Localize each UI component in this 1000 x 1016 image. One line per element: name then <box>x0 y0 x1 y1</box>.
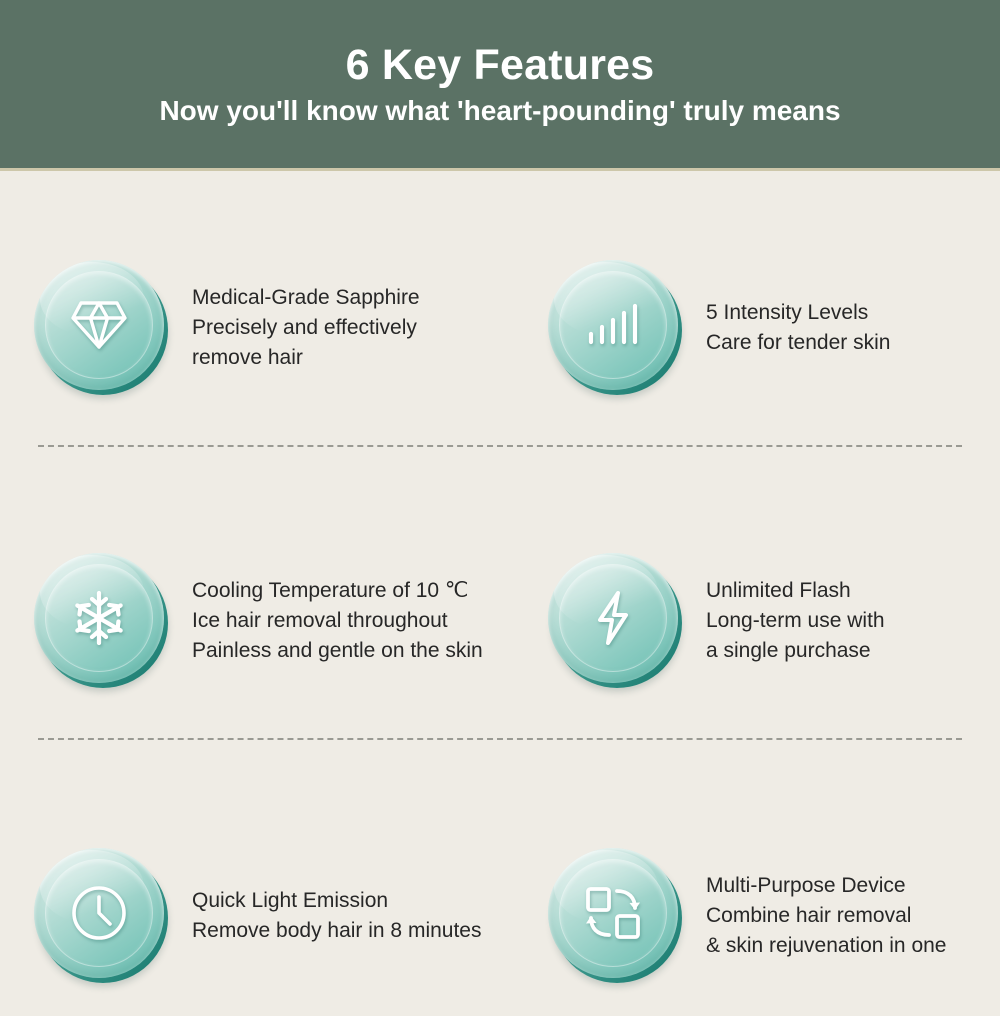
feature-line: Precisely and effectively <box>192 313 420 343</box>
feature-item-quick-light-emission: Quick Light Emission Remove body hair in… <box>0 816 520 1016</box>
feature-text: Cooling Temperature of 10 ℃ Ice hair rem… <box>192 576 483 666</box>
feature-line: Long-term use with <box>706 606 885 636</box>
feature-line: Ice hair removal throughout <box>192 606 483 636</box>
features-grid: Medical-Grade Sapphire Precisely and eff… <box>0 171 1000 1000</box>
feature-item-medical-grade-sapphire: Medical-Grade Sapphire Precisely and eff… <box>0 228 520 428</box>
feature-text: 5 Intensity Levels Care for tender skin <box>706 298 890 358</box>
feature-line: Unlimited Flash <box>706 576 885 606</box>
feature-line: & skin rejuvenation in one <box>706 931 947 961</box>
page-header: 6 Key Features Now you'll know what 'hea… <box>0 0 1000 171</box>
feature-line: Quick Light Emission <box>192 886 481 916</box>
feature-text: Unlimited Flash Long-term use with a sin… <box>706 576 885 666</box>
swap-squares-icon <box>548 848 678 978</box>
page-subtitle: Now you'll know what 'heart-pounding' tr… <box>159 96 840 125</box>
feature-line: Painless and gentle on the skin <box>192 636 483 666</box>
signal-bars-icon <box>548 260 678 390</box>
feature-line: Cooling Temperature of 10 ℃ <box>192 576 483 606</box>
feature-text: Quick Light Emission Remove body hair in… <box>192 886 481 946</box>
feature-line: Care for tender skin <box>706 328 890 358</box>
page-title: 6 Key Features <box>346 43 655 88</box>
feature-icon-badge <box>548 553 684 689</box>
feature-item-5-intensity-levels: 5 Intensity Levels Care for tender skin <box>520 228 1000 428</box>
section-divider <box>38 738 962 740</box>
feature-item-unlimited-flash: Unlimited Flash Long-term use with a sin… <box>520 521 1000 721</box>
lightning-bolt-icon <box>548 553 678 683</box>
feature-text: Medical-Grade Sapphire Precisely and eff… <box>192 283 420 373</box>
feature-line: Multi-Purpose Device <box>706 871 947 901</box>
feature-line: a single purchase <box>706 636 885 666</box>
section-divider <box>38 445 962 447</box>
clock-icon <box>34 848 164 978</box>
feature-row: Quick Light Emission Remove body hair in… <box>0 816 1000 1016</box>
feature-item-cooling-temperature: Cooling Temperature of 10 ℃ Ice hair rem… <box>0 521 520 721</box>
feature-icon-badge <box>548 260 684 396</box>
feature-icon-badge <box>34 553 170 689</box>
feature-icon-badge <box>34 848 170 984</box>
feature-line: remove hair <box>192 343 420 373</box>
feature-text: Multi-Purpose Device Combine hair remova… <box>706 871 947 961</box>
feature-icon-badge <box>548 848 684 984</box>
feature-row: Medical-Grade Sapphire Precisely and eff… <box>0 228 1000 428</box>
snowflake-icon <box>34 553 164 683</box>
feature-icon-badge <box>34 260 170 396</box>
feature-line: 5 Intensity Levels <box>706 298 890 328</box>
feature-line: Remove body hair in 8 minutes <box>192 916 481 946</box>
feature-infographic: 6 Key Features Now you'll know what 'hea… <box>0 0 1000 1000</box>
feature-item-multi-purpose-device: Multi-Purpose Device Combine hair remova… <box>520 816 1000 1016</box>
feature-line: Combine hair removal <box>706 901 947 931</box>
feature-line: Medical-Grade Sapphire <box>192 283 420 313</box>
diamond-icon <box>34 260 164 390</box>
feature-row: Cooling Temperature of 10 ℃ Ice hair rem… <box>0 521 1000 721</box>
